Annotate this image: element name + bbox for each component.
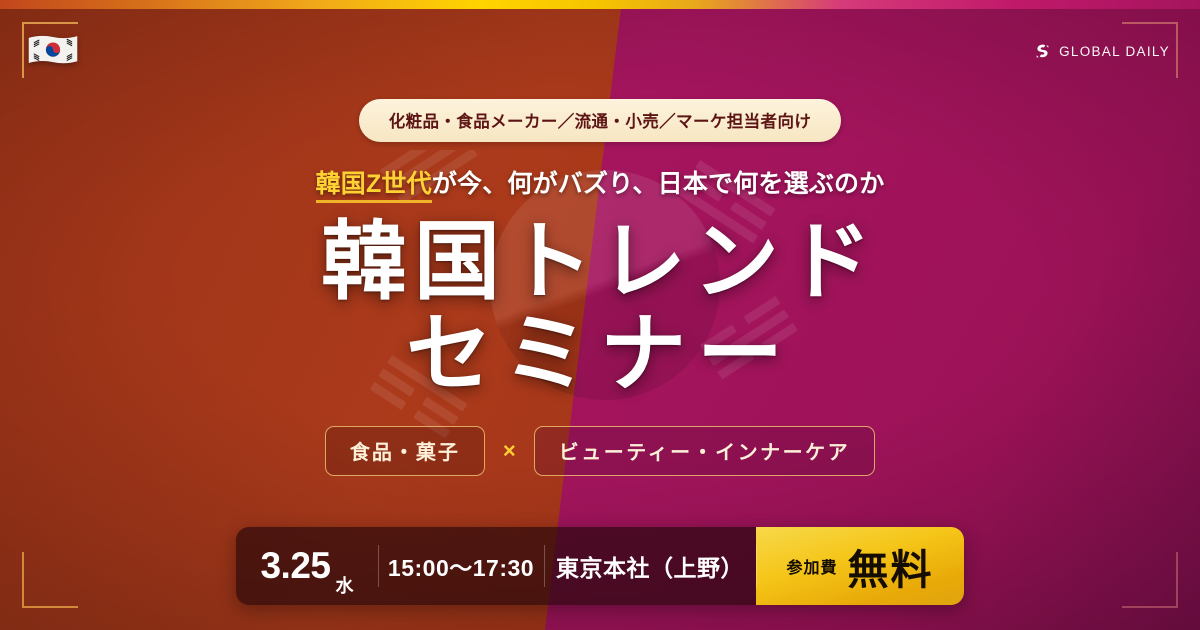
title-line-1: 韓国トレンド [321,214,879,310]
event-fee-label: 参加費 [786,554,837,578]
page-title: 韓国トレンド セミナー [321,216,879,400]
event-date-number: 3.25 [260,545,330,587]
event-fee-value: 無料 [848,536,934,596]
seminar-banner: GLOBAL DAILY 化粧品・食品メーカー／流通・小売／マーケ担当者向け 韓… [0,0,1200,630]
subtitle-highlight: 韓国Z世代 [316,170,432,203]
subtitle-rest: が今、何がバズり、日本で何を選ぶのか [432,170,885,198]
audience-pill: 化粧品・食品メーカー／流通・小売／マーケ担当者向け [359,99,842,142]
event-date: 3.25 水 [236,527,378,605]
tag-beauty-innercare: ビューティー・インナーケア [534,426,875,476]
tag-separator-icon: × [503,438,516,464]
title-line-2: セミナー [321,308,879,400]
event-date-weekday: 水 [336,572,354,598]
category-tags: 食品・菓子 × ビューティー・インナーケア [325,426,875,476]
event-time: 15:00〜17:30 [378,527,544,605]
subtitle: 韓国Z世代が今、何がバズり、日本で何を選ぶのか [316,164,885,200]
event-info-bar: 3.25 水 15:00〜17:30 東京本社（上野） 参加費 無料 [236,527,964,605]
event-fee: 参加費 無料 [756,527,964,605]
event-venue: 東京本社（上野） [544,527,756,605]
tag-food-confectionery: 食品・菓子 [325,426,485,476]
